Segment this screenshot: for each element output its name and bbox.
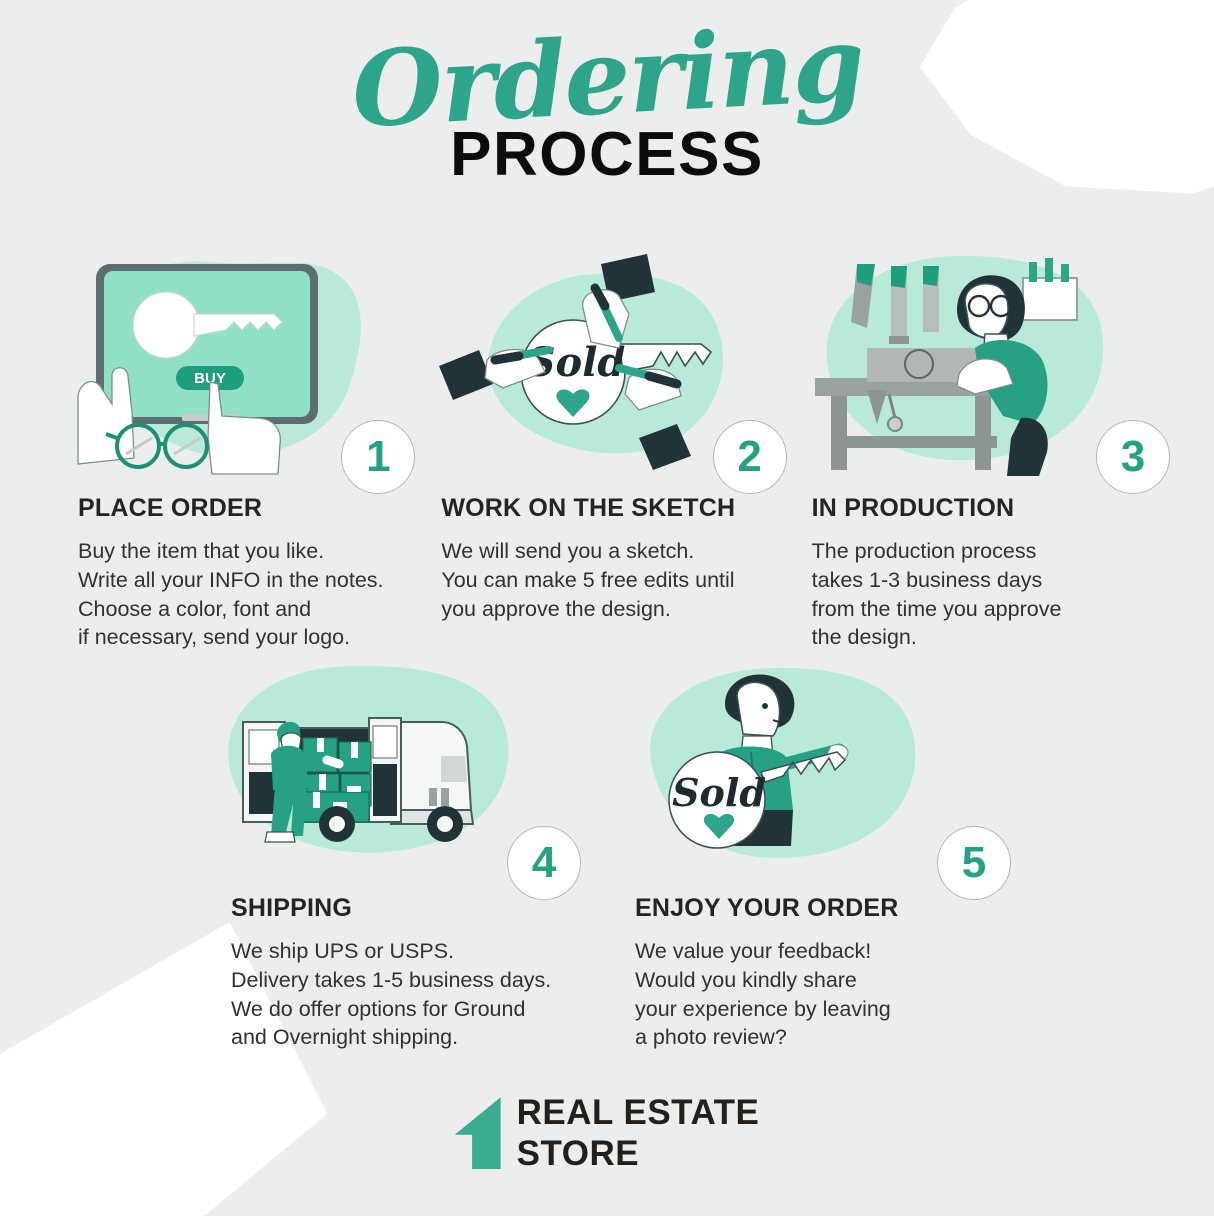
page-title: Ordering PROCESS — [0, 24, 1214, 186]
steps-row-top: BUY — [60, 248, 1180, 652]
step-badge-1: 1 — [341, 420, 415, 494]
step-4-title: SHIPPING — [215, 894, 625, 923]
step-3-body: The production process takes 1-3 busines… — [807, 537, 1180, 652]
step-card-4: 4 SHIPPING We ship UPS or USPS. Delivery… — [215, 660, 625, 1052]
step-2-illustration: Sold — [433, 248, 806, 478]
step-card-5: Sold 5 ENJOY YOUR ORDER We value your fe… — [625, 660, 1035, 1052]
step-5-illustration: Sold 5 — [625, 660, 1035, 878]
key-script-text-5: Sold — [672, 770, 766, 815]
infographic-page: Ordering PROCESS — [0, 0, 1214, 1216]
step-5-body: We value your feedback! Would you kindly… — [625, 937, 1035, 1052]
title-script-word: Ordering — [349, 11, 865, 144]
step-1-title: PLACE ORDER — [60, 494, 433, 523]
step-2-body: We will send you a sketch. You can make … — [433, 537, 806, 623]
step-badge-3: 3 — [1096, 420, 1170, 494]
step-2-title: WORK ON THE SKETCH — [433, 494, 806, 523]
steps-row-bottom: 4 SHIPPING We ship UPS or USPS. Delivery… — [215, 660, 1035, 1052]
logo-text: REAL ESTATE STORE — [517, 1092, 760, 1175]
step-badge-2: 2 — [713, 420, 787, 494]
step-badge-5: 5 — [937, 826, 1011, 900]
step-1-illustration: BUY — [60, 248, 433, 478]
step-3-illustration: 3 — [807, 248, 1180, 478]
step-card-1: BUY — [60, 248, 433, 652]
step-card-3: 3 IN PRODUCTION The production process t… — [807, 248, 1180, 652]
step-1-body: Buy the item that you like. Write all yo… — [60, 537, 433, 652]
step-4-body: We ship UPS or USPS. Delivery takes 1-5 … — [215, 937, 625, 1052]
step-3-title: IN PRODUCTION — [807, 494, 1180, 523]
house-arrow-icon — [455, 1097, 501, 1169]
step-card-2: Sold — [433, 248, 806, 652]
step-badge-4: 4 — [507, 826, 581, 900]
footer-logo: REAL ESTATE STORE — [0, 1092, 1214, 1175]
step-4-illustration: 4 — [215, 660, 625, 878]
